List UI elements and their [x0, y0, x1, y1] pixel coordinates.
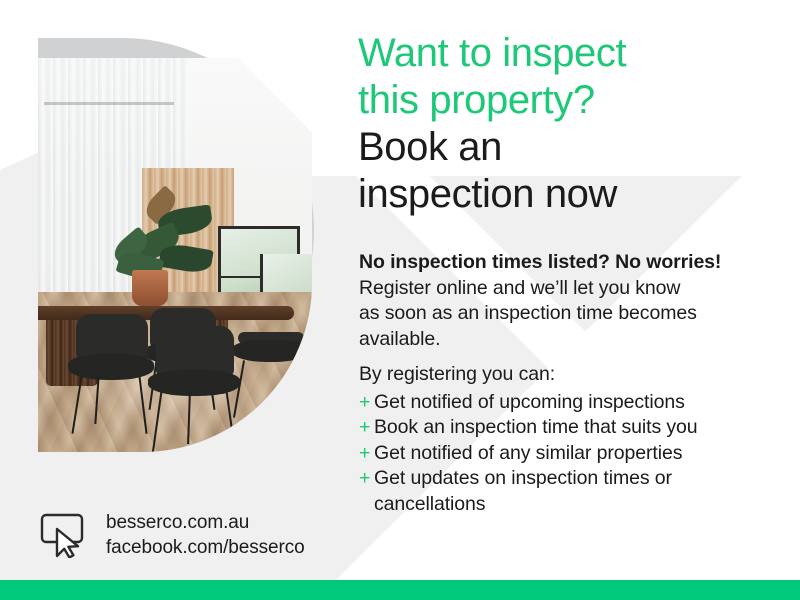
page-title: Want to inspect this property? Book an i… [358, 30, 788, 218]
plus-icon: + [359, 415, 370, 441]
benefits-block: By registering you can: + Get notified o… [359, 362, 784, 517]
benefits-intro: By registering you can: [359, 362, 784, 388]
list-item-label: Get notified of upcoming inspections [374, 391, 685, 413]
headline-line-1: Want to inspect [358, 30, 788, 77]
cursor-click-icon [40, 512, 92, 558]
list-item-label: Get notified of any similar properties [374, 442, 682, 464]
plus-icon: + [359, 390, 370, 416]
website-link[interactable]: besserco.com.au [106, 510, 305, 535]
bottom-green-bar [0, 580, 800, 600]
content-column: Want to inspect this property? Book an i… [358, 0, 788, 600]
body-lead: No inspection times listed? No worries! [359, 250, 779, 276]
list-item: + Get notified of upcoming inspections [359, 390, 784, 416]
body-copy: No inspection times listed? No worries! … [359, 250, 779, 352]
list-item-label: Get updates on inspection times or cance… [374, 467, 672, 515]
body-line-1: Register online and we’ll let you know [359, 276, 779, 302]
body-line-2: as soon as an inspection time becomes [359, 301, 779, 327]
plus-icon: + [359, 466, 370, 492]
footer-links: besserco.com.au facebook.com/besserco [106, 510, 305, 560]
inspection-booking-poster: Want to inspect this property? Book an i… [0, 0, 800, 600]
facebook-link[interactable]: facebook.com/besserco [106, 535, 305, 560]
headline-line-4: inspection now [358, 171, 788, 218]
list-item-label: Book an inspection time that suits you [374, 416, 698, 438]
list-item: + Get updates on inspection times or can… [359, 466, 784, 517]
headline-line-2: this property? [358, 77, 788, 124]
list-item: + Book an inspection time that suits you [359, 415, 784, 441]
benefits-list: + Get notified of upcoming inspections +… [359, 390, 784, 518]
headline-line-3: Book an [358, 124, 788, 171]
list-item: + Get notified of any similar properties [359, 441, 784, 467]
footer: besserco.com.au facebook.com/besserco [40, 510, 305, 560]
body-line-3: available. [359, 327, 779, 353]
plus-icon: + [359, 441, 370, 467]
